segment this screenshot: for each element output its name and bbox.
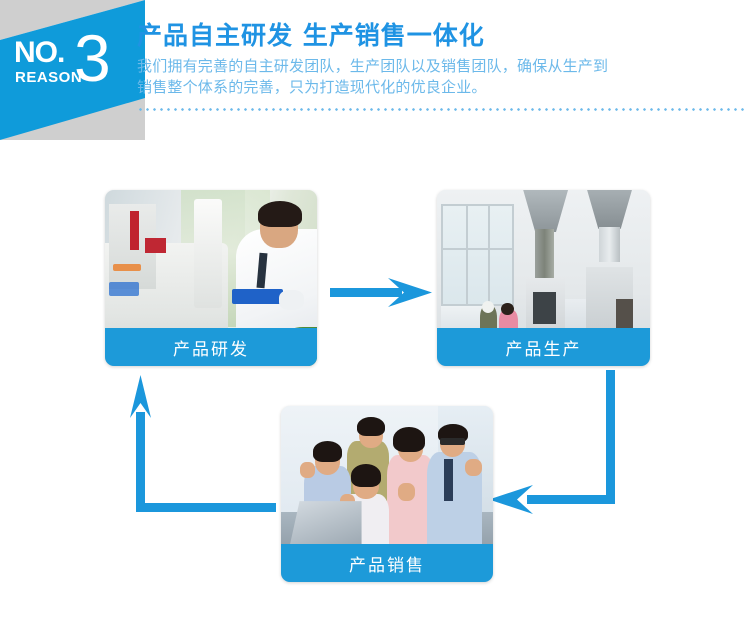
header-banner: NO. REASON 3 产品自主研发 生产销售一体化 我们拥有完善的自主研发团…: [0, 0, 750, 140]
factory-machine-left-door: [533, 292, 556, 324]
lab-column: [194, 199, 222, 308]
team-member-1-hair: [313, 441, 343, 462]
team-member-4-fist: [398, 483, 415, 501]
flow-card-rd[interactable]: 产品研发: [105, 190, 317, 366]
team-member-4-hair: [393, 427, 425, 452]
factory-pipe-right: [599, 227, 620, 262]
arrow-sales-to-rd: [130, 375, 276, 512]
lab-orange-tube: [113, 264, 141, 271]
production-caption: 产品生产: [437, 328, 650, 366]
team-member-5-glasses: [440, 438, 465, 445]
team-member-5-fist: [465, 459, 482, 477]
office-laptop: [289, 501, 361, 547]
lab-red-marker: [130, 211, 138, 250]
team-member-3-hair: [351, 464, 381, 487]
team-member-5-tie: [444, 459, 452, 501]
lab-blue-vials: [109, 282, 139, 296]
factory-window: [441, 204, 513, 306]
subtitle-line-2: 销售整个体系的完善，只为打造现代化的优良企业。: [137, 77, 737, 98]
reason-ribbon: NO. REASON 3: [0, 0, 145, 140]
flow-card-production[interactable]: 产品生产: [437, 190, 650, 366]
factory-worker-2-head: [501, 303, 514, 315]
lab-sample-tray: [232, 289, 283, 305]
sales-caption: 产品销售: [281, 544, 493, 582]
factory-window-mullion: [441, 248, 513, 250]
team-member-1-fist: [300, 462, 315, 478]
team-member-2-hair: [357, 417, 385, 436]
header-text-block: 产品自主研发 生产销售一体化 我们拥有完善的自主研发团队，生产团队以及销售团队，…: [137, 20, 737, 98]
header-divider: [137, 108, 747, 111]
arrow-production-to-sales: [489, 370, 615, 514]
flow-card-sales[interactable]: 产品销售: [281, 406, 493, 582]
factory-pipe-left: [535, 229, 554, 285]
lab-glove: [279, 290, 304, 309]
page-title: 产品自主研发 生产销售一体化: [137, 20, 737, 52]
lab-technician-hair: [258, 201, 303, 227]
arrow-rd-to-production: [330, 278, 432, 307]
rd-caption: 产品研发: [105, 328, 317, 366]
page-subtitle: 我们拥有完善的自主研发团队，生产团队以及销售团队，确保从生产到 销售整个体系的完…: [137, 56, 737, 98]
ribbon-shape: [0, 0, 145, 140]
lab-red-panel: [145, 238, 166, 254]
subtitle-line-1: 我们拥有完善的自主研发团队，生产团队以及销售团队，确保从生产到: [137, 56, 737, 77]
